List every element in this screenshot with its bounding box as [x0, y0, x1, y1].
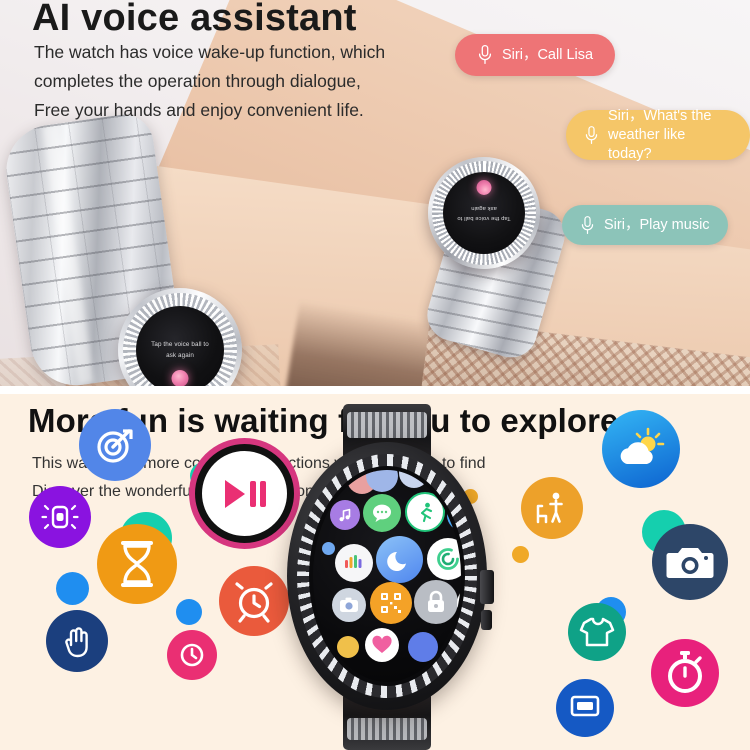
watch-app-qr-code[interactable] [370, 582, 412, 624]
watch-case-silver-right: Tap the voice ball to ask again [428, 157, 540, 269]
top-description: The watch has voice wake-up function, wh… [34, 38, 385, 125]
decorative-dot [512, 546, 529, 563]
decorative-dot [56, 572, 89, 605]
voice-prompt-right-line-2: ask again [447, 203, 521, 213]
feature-icon-hourglass-timer[interactable] [97, 524, 177, 604]
watch-app-heart-rate[interactable] [365, 628, 399, 662]
watch-app-cloud-top[interactable] [399, 470, 429, 488]
watch-side-button[interactable] [481, 610, 492, 630]
feature-icon-alarm-clock[interactable] [219, 566, 289, 636]
page-title: AI voice assistant [32, 0, 357, 40]
voice-command-text: Siri，Call Lisa [502, 46, 593, 65]
feature-icon-music-play-pause[interactable] [195, 444, 294, 543]
voice-ball-icon-right[interactable] [477, 180, 492, 195]
feature-icon-sedentary-reminder[interactable] [521, 477, 583, 539]
watch-app-lock[interactable] [414, 580, 458, 624]
feature-icon-tshirt[interactable] [568, 603, 626, 661]
feature-icon-target-goal[interactable] [79, 409, 151, 481]
more-fun-section: More fun is waiting for you to explore T… [0, 392, 750, 750]
watch-app-compass[interactable] [408, 632, 438, 662]
microphone-icon [584, 125, 599, 146]
band-crystal-inlay [347, 718, 427, 740]
voice-command-bubble-weather[interactable]: Siri，What's the weather like today? [566, 110, 750, 160]
watch-app-music-note[interactable] [330, 500, 360, 530]
watch-app-equalizer[interactable] [335, 544, 373, 582]
feature-icon-weather[interactable] [602, 410, 680, 488]
voice-ball-icon[interactable] [172, 370, 189, 387]
ai-voice-assistant-section: AI voice assistant The watch has voice w… [0, 0, 750, 390]
watch-app-sleep-moon[interactable] [376, 536, 423, 583]
voice-command-bubble-call[interactable]: Siri，Call Lisa [455, 34, 615, 76]
top-description-line-3: Free your hands and enjoy convenient lif… [34, 96, 385, 125]
watch-app-camera[interactable] [332, 588, 366, 622]
watch-screen-voice-right: Tap the voice ball to ask again [443, 172, 525, 254]
watch-app-sun-bottom[interactable] [337, 636, 359, 658]
microphone-icon [580, 215, 595, 236]
feature-icon-screen-display[interactable] [556, 679, 614, 737]
top-description-line-2: completes the operation through dialogue… [34, 67, 385, 96]
silver-watch-left: Tap the voice ball to ask again [10, 120, 240, 380]
section-divider [0, 386, 750, 394]
voice-command-text-line-1: Siri，What's the [608, 107, 732, 126]
watch-app-running[interactable] [405, 492, 445, 532]
watch-app-activity-ring[interactable] [427, 538, 461, 580]
voice-prompt-line-1: Tap the voice ball to [140, 339, 220, 350]
watch-app-grid-screen [313, 470, 461, 682]
feature-icon-find-watch[interactable] [29, 486, 91, 548]
watch-crown[interactable] [480, 570, 494, 604]
watch-app-dot-left[interactable] [322, 542, 335, 555]
feature-icon-heart-rate-small[interactable] [167, 630, 217, 680]
microphone-icon [477, 44, 493, 66]
watch-app-messages[interactable] [363, 494, 401, 532]
voice-prompt-right-line-1: Tap the voice ball to [447, 213, 521, 223]
voice-command-bubble-music[interactable]: Siri，Play music [562, 205, 728, 245]
silver-watch-on-wrist: Tap the voice ball to ask again [412, 155, 572, 345]
voice-command-text: Siri，Play music [604, 216, 710, 235]
feature-icon-camera[interactable] [652, 524, 728, 600]
voice-prompt-line-2: ask again [140, 350, 220, 361]
black-diamond-smartwatch [287, 404, 487, 750]
feature-icon-gesture-hand[interactable] [46, 610, 108, 672]
band-crystal-inlay [347, 412, 427, 438]
top-description-line-1: The watch has voice wake-up function, wh… [34, 38, 385, 67]
watch-screen-voice: Tap the voice ball to ask again [136, 306, 224, 390]
voice-command-text-line-2: weather like today? [608, 126, 732, 164]
feature-icon-stopwatch[interactable] [651, 639, 719, 707]
watch-case-black [287, 442, 487, 710]
product-page: AI voice assistant The watch has voice w… [0, 0, 750, 750]
decorative-dot [176, 599, 202, 625]
